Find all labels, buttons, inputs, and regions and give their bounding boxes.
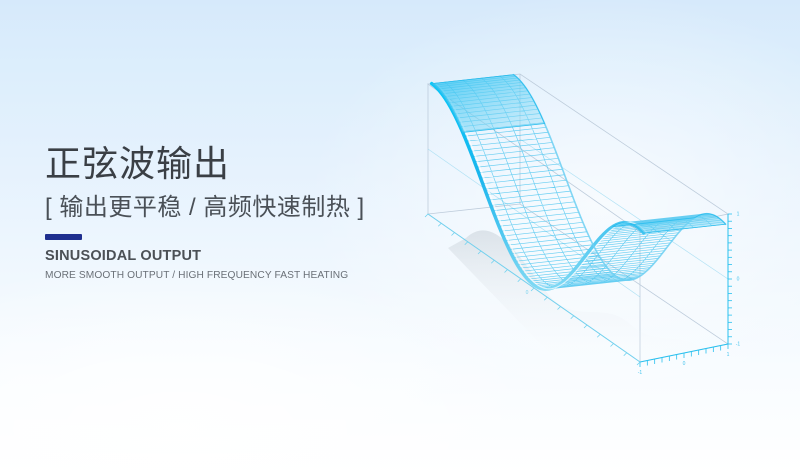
- headline-english: SINUSOIDAL OUTPUT: [45, 247, 445, 265]
- svg-text:0: 0: [526, 290, 529, 296]
- y-axis-tick-labels: 0: [526, 290, 529, 296]
- headline-chinese: 正弦波输出: [45, 142, 445, 186]
- svg-text:-1: -1: [638, 370, 643, 376]
- subheadline-chinese: [ 输出更平稳 / 高频快速制热 ]: [45, 192, 445, 224]
- svg-text:-1: -1: [736, 342, 741, 348]
- svg-text:0: 0: [683, 361, 686, 367]
- text-block: 正弦波输出 [ 输出更平稳 / 高频快速制热 ] SINUSOIDAL OUTP…: [45, 142, 445, 282]
- surface-crest-back: [514, 75, 726, 281]
- sinusoidal-output-banner: 正弦波输出 [ 输出更平稳 / 高频快速制热 ] SINUSOIDAL OUTP…: [0, 0, 800, 474]
- sine-wave-3d-plot-svg: 10-1 -101 0: [408, 62, 758, 392]
- subheadline-english: MORE SMOOTH OUTPUT / HIGH FREQUENCY FAST…: [45, 268, 433, 282]
- z-axis-tick-labels: 10-1: [736, 212, 741, 348]
- svg-text:1: 1: [737, 212, 740, 218]
- svg-text:1: 1: [727, 352, 730, 358]
- accent-bar-divider: [45, 234, 82, 240]
- surface-end-caps: [432, 75, 726, 233]
- z-axis: [728, 214, 732, 344]
- svg-text:0: 0: [737, 277, 740, 283]
- sine-wave-3d-plot: 10-1 -101 0: [408, 62, 758, 392]
